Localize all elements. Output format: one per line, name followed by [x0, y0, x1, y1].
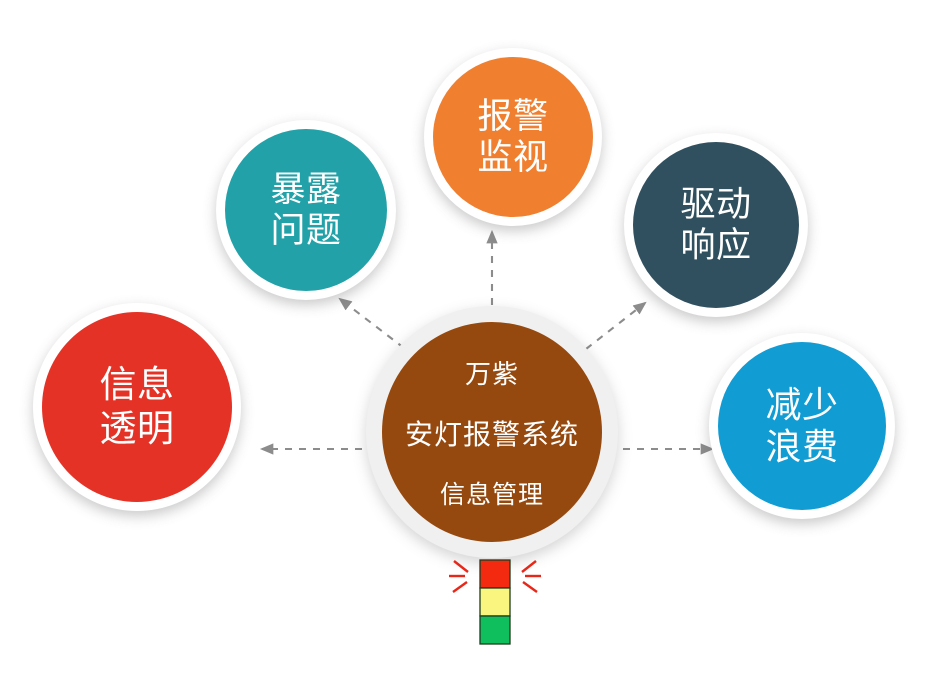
node-exposure-line2: 问题 — [270, 210, 341, 251]
andon-segment-green — [480, 616, 510, 644]
node-transparent-disc: 信息 透明 — [42, 312, 232, 502]
center-line1: 万紫 — [465, 354, 519, 391]
center-node[interactable]: 万紫 安灯报警系统 信息管理 — [366, 306, 618, 558]
node-waste-disc: 减少 浪费 — [718, 342, 886, 510]
node-monitor[interactable]: 报警 监视 — [424, 48, 602, 226]
node-exposure-line1: 暴露 — [270, 169, 341, 210]
center-line2: 安灯报警系统 — [405, 413, 579, 453]
node-response-line1: 驱动 — [680, 184, 751, 225]
node-transparent[interactable]: 信息 透明 — [33, 303, 241, 511]
connector-to-exposure — [340, 299, 404, 348]
node-waste-line1: 减少 — [765, 384, 838, 426]
andon-light-tower — [447, 552, 543, 648]
andon-hub-spoke-diagram: 信息 透明 暴露 问题 报警 监视 驱动 响应 减少 浪费 万紫 安 — [0, 0, 939, 680]
node-response[interactable]: 驱动 响应 — [624, 133, 808, 317]
andon-segment-yellow — [480, 588, 510, 616]
node-response-disc: 驱动 响应 — [633, 142, 799, 308]
node-monitor-line2: 监视 — [477, 137, 548, 178]
node-response-line2: 响应 — [680, 225, 751, 266]
center-line3: 信息管理 — [440, 475, 544, 511]
node-monitor-line1: 报警 — [477, 96, 548, 137]
node-monitor-disc: 报警 监视 — [433, 57, 593, 217]
node-exposure[interactable]: 暴露 问题 — [216, 120, 396, 300]
center-node-disc: 万紫 安灯报警系统 信息管理 — [382, 322, 602, 542]
node-waste[interactable]: 减少 浪费 — [709, 333, 895, 519]
connector-to-response — [586, 303, 645, 349]
andon-segment-red — [480, 560, 510, 588]
node-waste-line2: 浪费 — [765, 426, 838, 468]
node-transparent-line1: 信息 — [100, 363, 175, 407]
node-exposure-disc: 暴露 问题 — [225, 129, 387, 291]
node-transparent-line2: 透明 — [100, 407, 175, 451]
